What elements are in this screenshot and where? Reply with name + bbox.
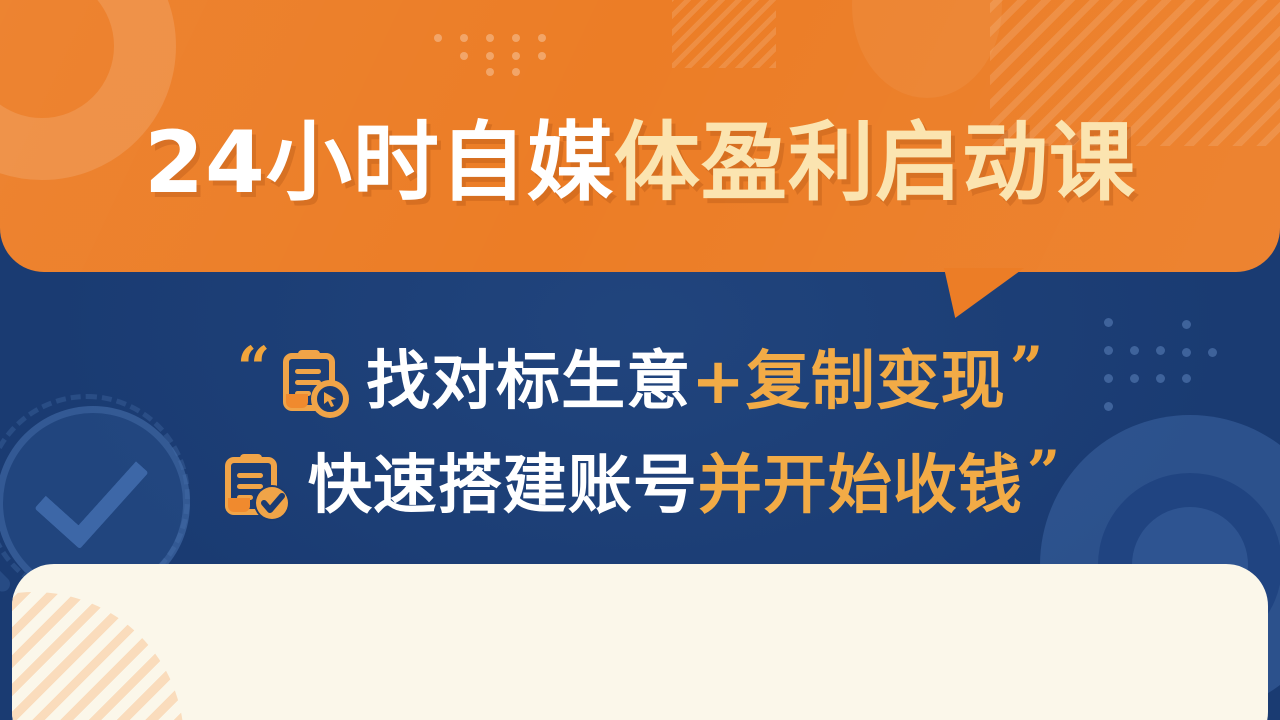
bullet-1-gold-text: +复制变现 <box>691 350 1006 414</box>
bottom-content-card <box>12 564 1268 720</box>
dot-grid-orange-decoration <box>434 34 564 78</box>
decorative-dot <box>434 34 442 42</box>
quote-close-mark-1: ” <box>1010 339 1043 397</box>
decorative-dot <box>512 34 520 42</box>
bullet-line-1: “ 找对标生意 +复制变现 ” <box>0 330 1280 434</box>
bullet-2-gold-text: 并开始收钱 <box>698 454 1023 518</box>
decorative-dot <box>512 68 520 76</box>
bullet-line-2: 快速搭建账号 并开始收钱 ” <box>0 434 1280 538</box>
decorative-dot <box>538 52 546 60</box>
decorative-dot <box>486 34 494 42</box>
decorative-dot <box>538 34 546 42</box>
decorative-dot <box>1104 318 1113 327</box>
striped-circle-decoration <box>12 592 184 720</box>
page-title: 24小时自媒体盈利启动课 <box>0 120 1280 206</box>
decorative-dot <box>512 52 520 60</box>
clipboard-check-icon <box>220 448 292 524</box>
bullet-2-white-text: 快速搭建账号 <box>308 454 698 518</box>
title-cream-segment: 体盈利启动课 <box>614 113 1136 213</box>
bullet-list: “ 找对标生意 +复制变现 ” <box>0 330 1280 538</box>
clipboard-search-icon <box>278 344 350 420</box>
decorative-dot <box>460 34 468 42</box>
decorative-dot <box>486 68 494 76</box>
quote-open-mark-1: “ <box>237 339 270 397</box>
decorative-dot <box>1182 320 1191 329</box>
diagonal-stripes-center-top <box>672 0 776 68</box>
title-white-segment: 24小时自媒 <box>144 113 614 213</box>
decorative-dot <box>460 52 468 60</box>
quote-close-mark-2: ” <box>1027 443 1060 501</box>
bullet-1-white-text: 找对标生意 <box>366 350 691 414</box>
decorative-dot <box>486 52 494 60</box>
promo-poster: 24小时自媒体盈利启动课 “ 找对标生意 +复制变现 <box>0 0 1280 720</box>
